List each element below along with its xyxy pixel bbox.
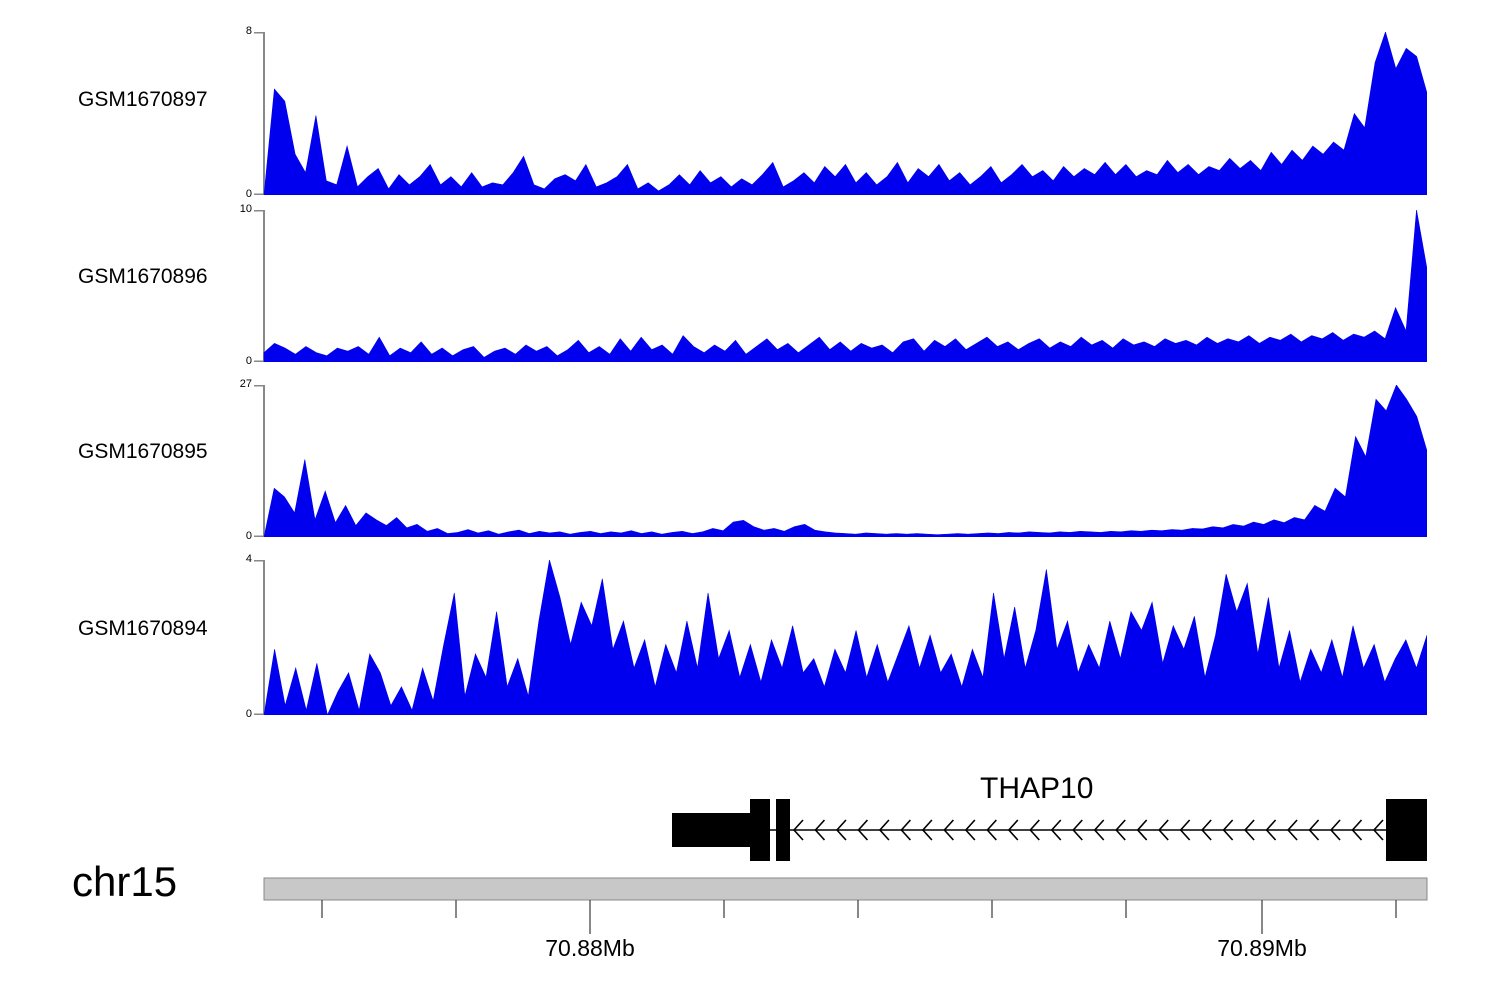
axis-min-label-1: 0 [204, 355, 252, 367]
track-label-3: GSM1670894 [78, 617, 208, 641]
gene-name-label: THAP10 [980, 772, 1093, 806]
coverage-plot-3 [250, 560, 1427, 715]
ruler-tick-label-1: 70.89Mb [1210, 935, 1314, 962]
track-label-2: GSM1670895 [78, 440, 208, 464]
gene-annotation-panel: THAP1070.88Mb70.89Mb [0, 760, 1500, 980]
axis-max-label-0: 8 [204, 25, 252, 37]
track-label-0: GSM1670897 [78, 88, 208, 112]
axis-max-label-2: 27 [204, 378, 252, 390]
ruler-tick-label-0: 70.88Mb [538, 935, 642, 962]
axis-max-label-1: 10 [204, 203, 252, 215]
genome-browser-view: GSM167089780GSM1670896100GSM1670895270GS… [0, 0, 1500, 980]
axis-min-label-2: 0 [204, 530, 252, 542]
axis-min-label-0: 0 [204, 188, 252, 200]
track-label-1: GSM1670896 [78, 265, 208, 289]
coverage-plot-0 [250, 32, 1427, 195]
axis-min-label-3: 0 [204, 708, 252, 720]
coverage-plot-2 [250, 385, 1427, 537]
axis-max-label-3: 4 [204, 553, 252, 565]
chromosome-label: chr15 [72, 858, 177, 906]
coverage-plot-1 [250, 210, 1427, 362]
